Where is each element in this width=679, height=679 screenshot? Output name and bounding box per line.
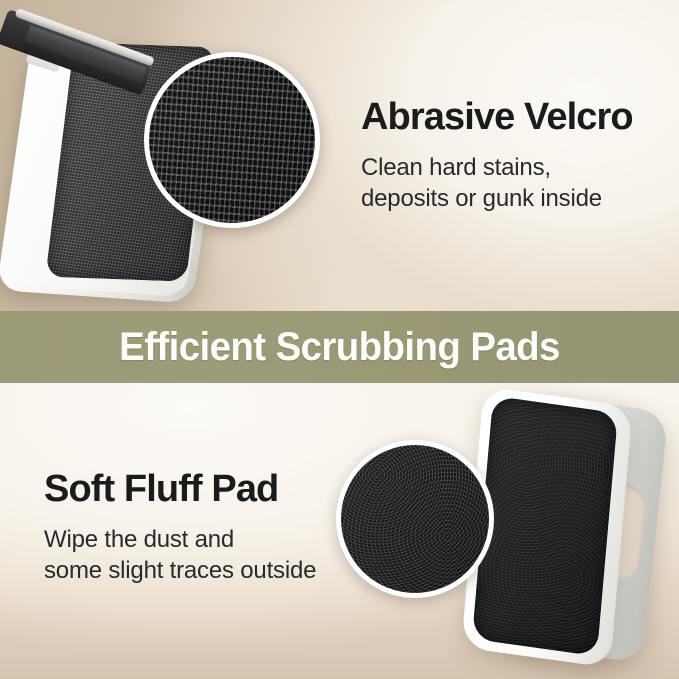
bottom-feature-description-line-2: some slight traces outside [44,555,316,586]
bottom-feature-description: Wipe the dust and some slight traces out… [44,524,316,586]
top-feature-panel: Abrasive Velcro Clean hard stains, depos… [0,0,679,311]
fluff-texture-magnifier-circle [336,440,494,598]
velcro-texture-magnifier-circle [144,52,320,228]
fluff-pad-surface [472,396,618,657]
bottom-feature-description-line-1: Wipe the dust and [44,524,316,555]
bottom-feature-text-block: Soft Fluff Pad Wipe the dust and some sl… [44,470,316,586]
top-feature-description-line-2: deposits or gunk inside [361,183,633,214]
top-feature-text-block: Abrasive Velcro Clean hard stains, depos… [361,98,633,214]
center-banner: Efficient Scrubbing Pads [0,311,679,383]
top-feature-heading: Abrasive Velcro [361,98,633,138]
top-feature-description: Clean hard stains, deposits or gunk insi… [361,152,633,214]
banner-title: Efficient Scrubbing Pads [119,325,560,370]
bottom-feature-heading: Soft Fluff Pad [44,470,316,510]
top-feature-description-line-1: Clean hard stains, [361,152,633,183]
product-infographic: Abrasive Velcro Clean hard stains, depos… [0,0,679,679]
